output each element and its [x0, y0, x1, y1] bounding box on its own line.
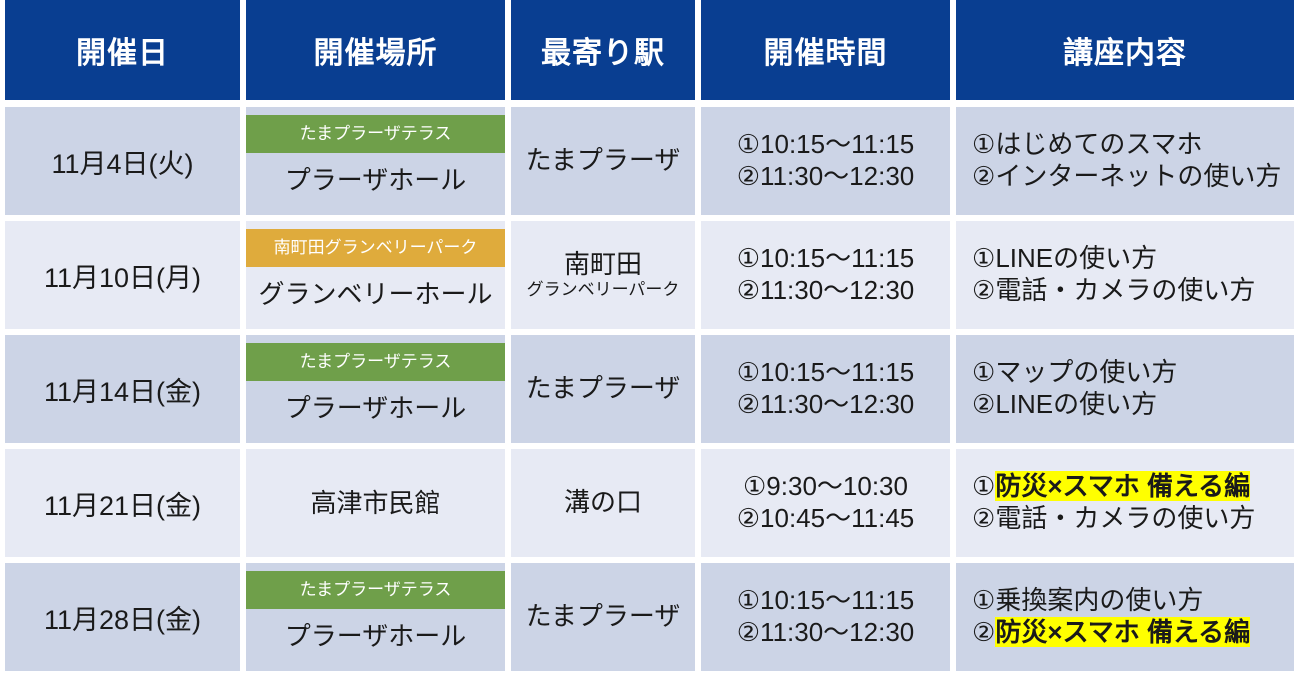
venue-name: プラーザホール [246, 381, 505, 435]
station-name: 溝の口 [511, 488, 695, 518]
cell-venue: 高津市民館 [240, 449, 505, 563]
course-marker-1: ① [972, 585, 995, 615]
station-name: 南町田 [511, 250, 695, 280]
cell-content: ①LINEの使い方②電話・カメラの使い方 [950, 221, 1299, 335]
content-block: ①はじめてのスマホ②インターネットの使い方 [956, 129, 1294, 192]
course-title-2: 電話・カメラの使い方 [995, 503, 1255, 533]
course-item-1: ①マップの使い方 [972, 357, 1294, 389]
content-block: ①乗換案内の使い方②防災×スマホ 備える編 [956, 585, 1294, 648]
station-name: たまプラーザ [511, 602, 695, 632]
course-item-1: ①防災×スマホ 備える編 [972, 471, 1294, 503]
venue-name: グランベリーホール [246, 267, 505, 321]
venue-banner: たまプラーザテラス [246, 115, 505, 153]
time-slot-1: ①10:15～11:15 [701, 129, 950, 161]
venue-name: プラーザホール [246, 153, 505, 207]
venue-wrapper: たまプラーザテラスプラーザホール [246, 563, 505, 671]
venue-wrapper: 南町田グランベリーパークグランベリーホール [246, 221, 505, 329]
time-block: ①10:15～11:15②11:30～12:30 [701, 585, 950, 648]
cell-time: ①10:15～11:15②11:30～12:30 [695, 221, 950, 335]
station-name: たまプラーザ [511, 146, 695, 176]
course-title-2: 電話・カメラの使い方 [995, 275, 1255, 305]
table-row: 11月4日(火)たまプラーザテラスプラーザホールたまプラーザ①10:15～11:… [0, 107, 1299, 221]
event-date: 11月10日(月) [44, 263, 201, 293]
time-block: ①9:30～10:30②10:45～11:45 [701, 471, 950, 534]
course-marker-1: ① [972, 129, 995, 159]
course-marker-2: ② [972, 161, 995, 191]
cell-station: たまプラーザ [505, 107, 695, 221]
column-header-content: 講座内容 [950, 0, 1299, 107]
cell-content: ①乗換案内の使い方②防災×スマホ 備える編 [950, 563, 1299, 676]
cell-station: 溝の口 [505, 449, 695, 563]
course-title-1: マップの使い方 [995, 357, 1177, 387]
time-slot-2: ②11:30～12:30 [701, 161, 950, 193]
column-header-station: 最寄り駅 [505, 0, 695, 107]
header-row: 開催日 開催場所 最寄り駅 開催時間 講座内容 [0, 0, 1299, 107]
column-header-time: 開催時間 [695, 0, 950, 107]
course-marker-2: ② [972, 617, 995, 647]
time-slot-1: ①9:30～10:30 [701, 471, 950, 503]
column-header-venue: 開催場所 [240, 0, 505, 107]
cell-time: ①10:15～11:15②11:30～12:30 [695, 563, 950, 676]
course-title-2: 防災×スマホ 備える編 [995, 617, 1250, 647]
course-marker-1: ① [972, 243, 995, 273]
table-row: 11月21日(金)高津市民館溝の口①9:30～10:30②10:45～11:45… [0, 449, 1299, 563]
time-block: ①10:15～11:15②11:30～12:30 [701, 357, 950, 420]
venue-wrapper: たまプラーザテラスプラーザホール [246, 107, 505, 215]
course-item-1: ①乗換案内の使い方 [972, 585, 1294, 617]
column-header-date: 開催日 [0, 0, 240, 107]
cell-station: たまプラーザ [505, 563, 695, 676]
course-marker-2: ② [972, 389, 995, 419]
time-slot-1: ①10:15～11:15 [701, 585, 950, 617]
cell-date: 11月14日(金) [0, 335, 240, 449]
cell-date: 11月10日(月) [0, 221, 240, 335]
course-item-1: ①LINEの使い方 [972, 243, 1294, 275]
table-body: 11月4日(火)たまプラーザテラスプラーザホールたまプラーザ①10:15～11:… [0, 107, 1299, 676]
station-name-sub: グランベリーパーク [511, 280, 695, 300]
course-item-2: ②電話・カメラの使い方 [972, 503, 1294, 535]
cell-date: 11月28日(金) [0, 563, 240, 676]
cell-content: ①防災×スマホ 備える編②電話・カメラの使い方 [950, 449, 1299, 563]
venue-name: プラーザホール [246, 609, 505, 663]
course-marker-1: ① [972, 357, 995, 387]
event-date: 11月28日(金) [44, 605, 201, 635]
cell-station: 南町田グランベリーパーク [505, 221, 695, 335]
content-block: ①防災×スマホ 備える編②電話・カメラの使い方 [956, 471, 1294, 534]
event-date: 11月4日(火) [51, 149, 193, 179]
course-title-1: LINEの使い方 [995, 243, 1157, 273]
venue-wrapper: 高津市民館 [246, 449, 505, 557]
time-slot-2: ②11:30～12:30 [701, 389, 950, 421]
course-item-2: ②インターネットの使い方 [972, 161, 1294, 193]
course-item-2: ②防災×スマホ 備える編 [972, 617, 1294, 649]
time-slot-2: ②10:45～11:45 [701, 503, 950, 535]
table-row: 11月28日(金)たまプラーザテラスプラーザホールたまプラーザ①10:15～11… [0, 563, 1299, 676]
cell-content: ①はじめてのスマホ②インターネットの使い方 [950, 107, 1299, 221]
course-item-2: ②電話・カメラの使い方 [972, 275, 1294, 307]
cell-content: ①マップの使い方②LINEの使い方 [950, 335, 1299, 449]
venue-name: 高津市民館 [246, 449, 505, 557]
cell-time: ①9:30～10:30②10:45～11:45 [695, 449, 950, 563]
schedule-table: 開催日 開催場所 最寄り駅 開催時間 講座内容 11月4日(火)たまプラーザテラ… [0, 0, 1299, 676]
course-marker-2: ② [972, 275, 995, 305]
event-date: 11月21日(金) [44, 491, 201, 521]
time-block: ①10:15～11:15②11:30～12:30 [701, 243, 950, 306]
cell-date: 11月4日(火) [0, 107, 240, 221]
table-row: 11月10日(月)南町田グランベリーパークグランベリーホール南町田グランベリーパ… [0, 221, 1299, 335]
course-title-1: はじめてのスマホ [995, 129, 1202, 159]
course-item-2: ②LINEの使い方 [972, 389, 1294, 421]
course-title-1: 乗換案内の使い方 [995, 585, 1203, 615]
venue-banner: たまプラーザテラス [246, 343, 505, 381]
course-item-1: ①はじめてのスマホ [972, 129, 1294, 161]
cell-venue: たまプラーザテラスプラーザホール [240, 107, 505, 221]
cell-station: たまプラーザ [505, 335, 695, 449]
venue-banner: たまプラーザテラス [246, 571, 505, 609]
table-row: 11月14日(金)たまプラーザテラスプラーザホールたまプラーザ①10:15～11… [0, 335, 1299, 449]
time-slot-1: ①10:15～11:15 [701, 243, 950, 275]
content-block: ①LINEの使い方②電話・カメラの使い方 [956, 243, 1294, 306]
course-title-1: 防災×スマホ 備える編 [995, 471, 1250, 501]
time-slot-2: ②11:30～12:30 [701, 275, 950, 307]
station-name: たまプラーザ [511, 374, 695, 404]
time-slot-1: ①10:15～11:15 [701, 357, 950, 389]
cell-time: ①10:15～11:15②11:30～12:30 [695, 335, 950, 449]
time-slot-2: ②11:30～12:30 [701, 617, 950, 649]
course-marker-1: ① [972, 471, 995, 501]
venue-banner: 南町田グランベリーパーク [246, 229, 505, 267]
course-title-2: LINEの使い方 [995, 389, 1157, 419]
cell-venue: たまプラーザテラスプラーザホール [240, 335, 505, 449]
event-date: 11月14日(金) [44, 377, 201, 407]
cell-venue: たまプラーザテラスプラーザホール [240, 563, 505, 676]
time-block: ①10:15～11:15②11:30～12:30 [701, 129, 950, 192]
cell-date: 11月21日(金) [0, 449, 240, 563]
cell-venue: 南町田グランベリーパークグランベリーホール [240, 221, 505, 335]
table-header: 開催日 開催場所 最寄り駅 開催時間 講座内容 [0, 0, 1299, 107]
cell-time: ①10:15～11:15②11:30～12:30 [695, 107, 950, 221]
course-title-2: インターネットの使い方 [995, 161, 1281, 191]
course-marker-2: ② [972, 503, 995, 533]
venue-wrapper: たまプラーザテラスプラーザホール [246, 335, 505, 443]
content-block: ①マップの使い方②LINEの使い方 [956, 357, 1294, 420]
